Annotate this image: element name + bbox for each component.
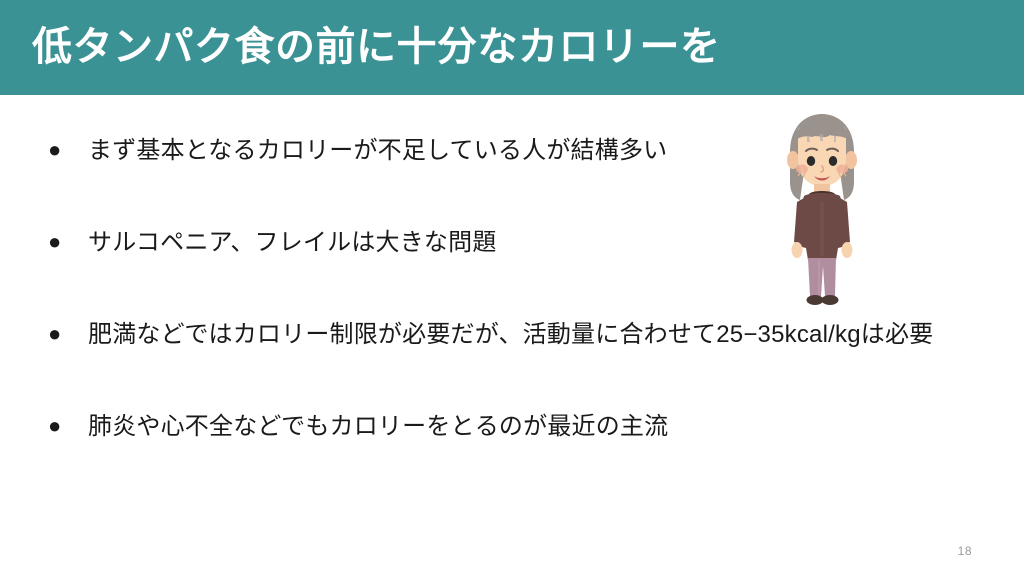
bullet-dot-icon: ● <box>40 314 88 354</box>
page-number: 18 <box>958 544 972 558</box>
list-item-label: 肺炎や心不全などでもカロリーをとるのが最近の主流 <box>88 406 990 448</box>
list-item: ● 肺炎や心不全などでもカロリーをとるのが最近の主流 <box>40 406 990 448</box>
slide-title-band: 低タンパク食の前に十分なカロリーを <box>0 0 1024 95</box>
bullet-dot-icon: ● <box>40 406 88 446</box>
elderly-woman-illustration <box>762 110 882 310</box>
slide-canvas: 低タンパク食の前に十分なカロリーを ● まず基本となるカロリーが不足している人が… <box>0 0 1024 576</box>
bullet-dot-icon: ● <box>40 222 88 262</box>
list-item-label: 肥満などではカロリー制限が必要だが、活動量に合わせて25−35kcal/kgは必… <box>88 314 988 356</box>
elderly-woman-graphic <box>762 110 882 310</box>
list-item: ● 肥満などではカロリー制限が必要だが、活動量に合わせて25−35kcal/kg… <box>40 314 990 356</box>
page-title: 低タンパク食の前に十分なカロリーを <box>32 20 982 74</box>
bullet-dot-icon: ● <box>40 130 88 170</box>
